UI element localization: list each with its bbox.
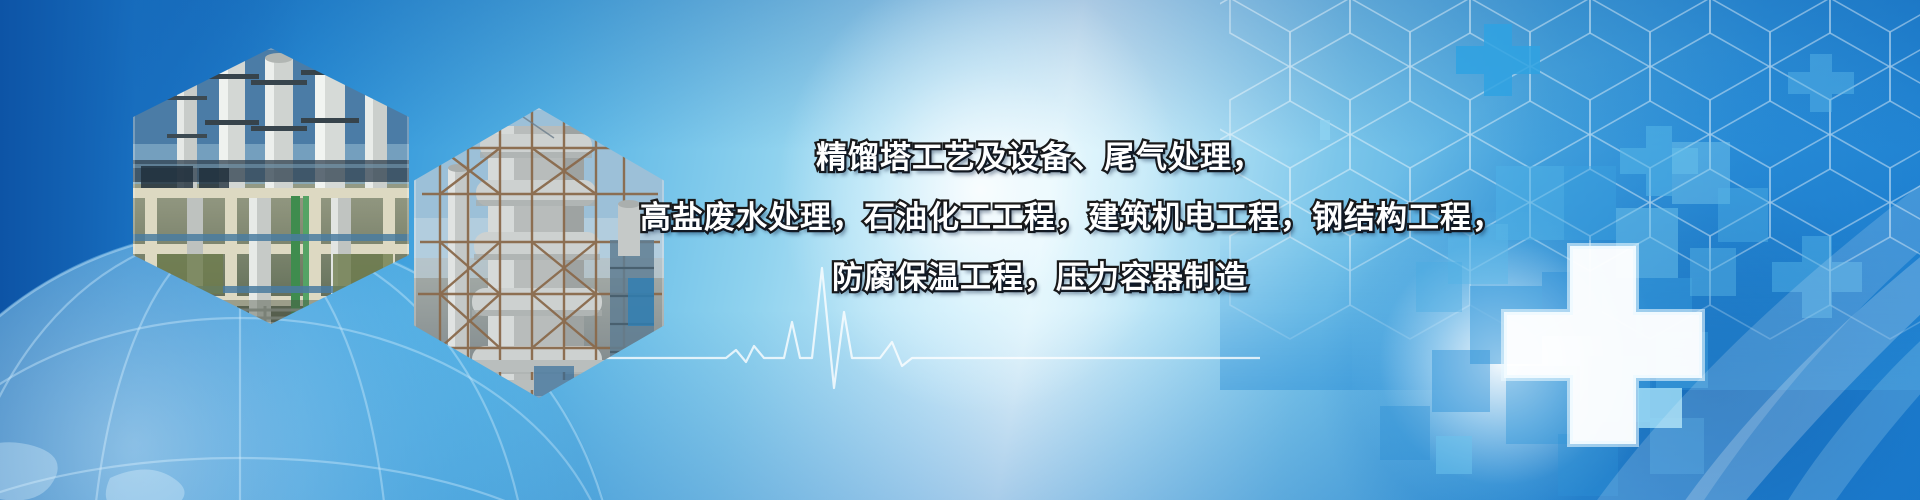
headline-line-3: 防腐保温工程，压力容器制造 <box>640 248 1440 308</box>
headline-block: 精馏塔工艺及设备、尾气处理， 高盐废水处理，石油化工工程，建筑机电工程，钢结构工… <box>640 128 1440 308</box>
hero-banner: 精馏塔工艺及设备、尾气处理， 高盐废水处理，石油化工工程，建筑机电工程，钢结构工… <box>0 0 1920 500</box>
headline-line-2: 高盐废水处理，石油化工工程，建筑机电工程，钢结构工程， <box>640 188 1440 248</box>
headline-line-1: 精馏塔工艺及设备、尾气处理， <box>640 128 1440 188</box>
curved-light-ribbon <box>1360 140 1920 500</box>
